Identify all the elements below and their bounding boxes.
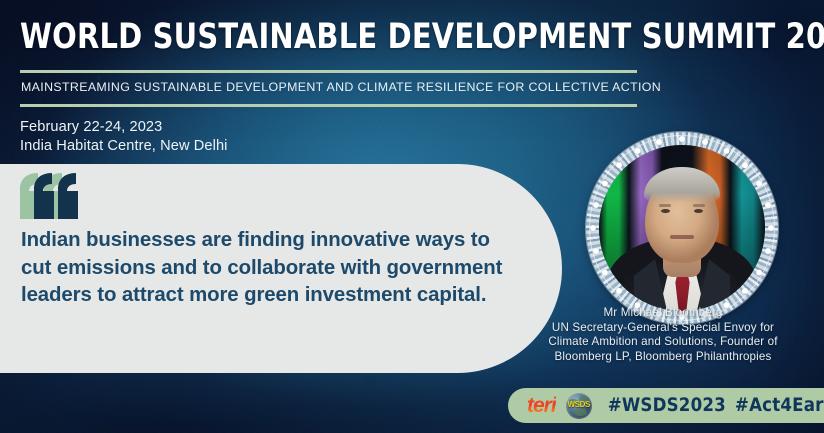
quote-card: Indian businesses are finding innovative… — [0, 164, 562, 373]
wsds-globe-logo: WSDS — [566, 393, 592, 419]
figure-mouth — [670, 235, 694, 239]
figure-brow-left — [659, 204, 671, 207]
wsds-logo-label: WSDS — [566, 400, 592, 409]
speaker-title-line-3: Bloomberg LP, Bloomberg Philanthropies — [510, 350, 816, 365]
quote-text: Indian businesses are finding innovative… — [21, 227, 521, 310]
page-title: WORLD SUSTAINABLE DEVELOPMENT SUMMIT 202… — [20, 18, 590, 56]
portrait-ring-dot — [768, 225, 774, 231]
poster-header: WORLD SUSTAINABLE DEVELOPMENT SUMMIT 202… — [20, 18, 640, 156]
figure-hair — [644, 167, 720, 203]
globe-landmass — [574, 409, 587, 416]
hashtag-wsds2023: #WSDS2023 — [608, 395, 726, 416]
portrait-figure — [599, 145, 765, 311]
speaker-title-line-1: UN Secretary-General's Special Envoy for — [510, 321, 816, 336]
hashtag-act4earth: #Act4Earth — [735, 395, 824, 416]
open-quote-icon — [20, 173, 84, 219]
event-details: February 22-24, 2023 India Habitat Centr… — [20, 118, 640, 156]
teri-logo: teri — [527, 395, 556, 416]
speaker-caption: Mr Michael Bloomberg UN Secretary-Genera… — [510, 306, 816, 364]
header-rule-bottom — [20, 104, 637, 107]
speaker-title-line-2: Climate Ambition and Solutions, Founder … — [510, 335, 816, 350]
event-venue: India Habitat Centre, New Delhi — [20, 137, 640, 156]
portrait-ring-dot — [590, 225, 596, 231]
portrait-ring-dot — [765, 248, 771, 254]
event-date: February 22-24, 2023 — [20, 118, 640, 137]
poster-canvas: WORLD SUSTAINABLE DEVELOPMENT SUMMIT 202… — [0, 0, 824, 433]
figure-eye-right — [694, 209, 703, 213]
speaker-name: Mr Michael Bloomberg — [510, 306, 816, 321]
hashtag-group: #WSDS2023#Act4Earth — [608, 395, 824, 416]
portrait-photo — [599, 145, 765, 311]
page-subtitle: MAINSTREAMING SUSTAINABLE DEVELOPMENT AN… — [20, 73, 640, 95]
portrait-ring-dot — [679, 136, 685, 142]
footer-bar: teri WSDS #WSDS2023#Act4Earth — [508, 388, 824, 423]
portrait-ring-dot — [765, 202, 771, 208]
figure-eye-left — [661, 209, 670, 213]
speaker-portrait — [586, 132, 778, 324]
figure-brow-right — [693, 204, 705, 207]
